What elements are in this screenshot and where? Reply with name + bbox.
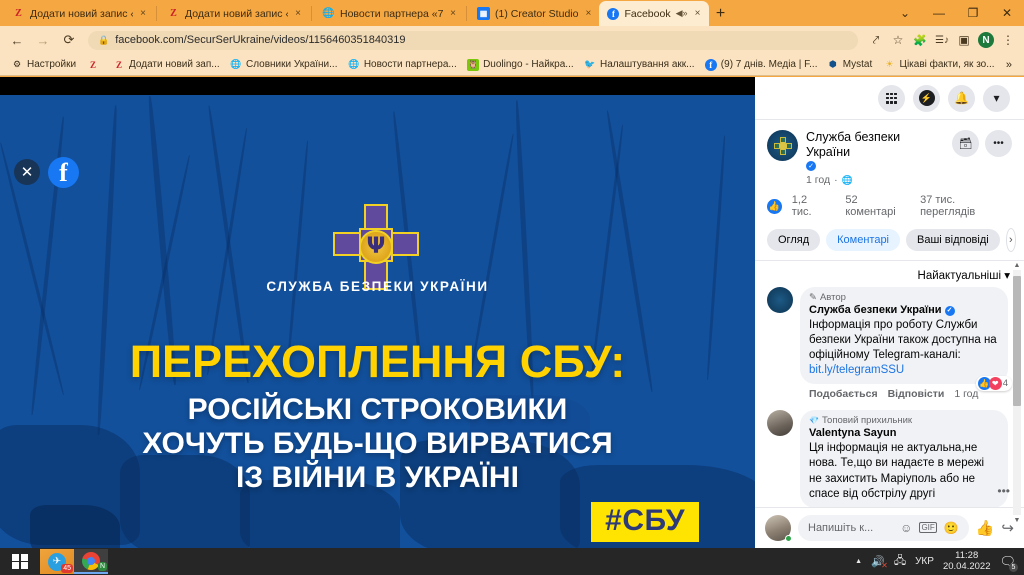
diamond-icon: 💎 <box>809 416 819 425</box>
video-headline: ПЕРЕХОПЛЕННЯ СБУ: РОСІЙСЬКІ СТРОКОВИКИ Х… <box>0 339 755 495</box>
creator-studio-icon: ▦ <box>477 7 490 20</box>
post-time: 1 год <box>806 174 830 186</box>
tab-title: Додати новий запис ‹ 7 днів <box>30 8 133 20</box>
comment-author-label: Служба безпеки України <box>809 304 942 318</box>
bookmark-item[interactable]: ⬢ Mystat <box>822 57 877 73</box>
tab-close-icon[interactable]: × <box>583 8 593 19</box>
sbu-emblem-mini <box>774 137 792 155</box>
tab-divider <box>311 6 312 21</box>
clock-time: 11:28 <box>943 551 991 562</box>
page-avatar[interactable] <box>767 130 798 161</box>
sbu-emblem-mini <box>773 293 788 308</box>
comments-list: ✎ Автор Служба безпеки України ✓ Інформа… <box>755 287 1024 507</box>
post-meta: 1 год · 🌐 <box>806 174 944 186</box>
tab-title: Додати новий запис ‹ 7 днів <box>185 8 288 20</box>
reaction-count: 4 <box>1003 378 1008 389</box>
comment-text-body: Інформація про роботу Служби безпеки Укр… <box>809 319 997 361</box>
comment-composer: Напишіть к... ☺ GIF 🙂 👍 ↪ <box>755 507 1024 548</box>
post-stats: 👍 1,2 тис. 52 коментарі 37 тис. перегляд… <box>755 186 1024 226</box>
hashtag-badge: #СБУ <box>591 502 699 542</box>
playlist-icon[interactable]: ☰♪ <box>932 30 952 50</box>
gear-icon: ⚙ <box>11 59 23 71</box>
windows-logo-icon <box>12 554 28 570</box>
tab-title: Facebook <box>624 8 670 20</box>
bookmark-item[interactable]: 🌐 Словники України... <box>225 57 341 73</box>
tab-comments[interactable]: Коментарі <box>826 229 900 251</box>
browser-tab[interactable]: Z Додати новий запис ‹ 7 днів × <box>159 1 309 26</box>
emoji-icon[interactable]: ☺ <box>900 521 912 535</box>
headline-line-4: ІЗ ВІЙНИ В УКРАЇНІ <box>0 461 755 495</box>
browser-tab[interactable]: ▦ (1) Creator Studio × <box>469 1 599 26</box>
comment-input[interactable]: Напишіть к... ☺ GIF 🙂 <box>798 515 969 541</box>
close-window-button[interactable]: ✕ <box>990 6 1024 20</box>
comment-item: ✎ Автор Служба безпеки України ✓ Інформа… <box>767 287 1008 406</box>
bookmark-label: Налаштування акк... <box>600 59 695 70</box>
avatar-initial: N <box>978 32 994 48</box>
like-reaction-icon: 👍 <box>767 199 782 214</box>
page-name-row[interactable]: Служба безпеки України <box>806 130 944 160</box>
browser-tab[interactable]: 🌐 Новости партнера «7 днів» × <box>314 1 464 26</box>
headline-line-1: ПЕРЕХОПЛЕННЯ СБУ: <box>130 339 626 385</box>
duolingo-icon: 🦉 <box>467 59 479 71</box>
chrome-browser-window: Z Додати новий запис ‹ 7 днів × Z Додати… <box>0 0 1024 548</box>
bookmarks-overflow-button[interactable]: » <box>1000 59 1018 71</box>
sbu-emblem: Ψ <box>333 204 419 290</box>
post-header-actions: 🗃 ••• <box>952 130 1012 157</box>
comment-count: 52 коментарі <box>845 194 910 218</box>
comment-sort-selector[interactable]: Найактуальніші ▾ <box>755 260 1024 287</box>
z-icon: Z <box>87 59 99 71</box>
tab-strip: Z Додати новий запис ‹ 7 днів × Z Додати… <box>0 0 1024 26</box>
bookmark-label: Duolingo - Найкра... <box>483 59 574 70</box>
chevron-right-icon[interactable]: › <box>1006 228 1016 252</box>
video-top-black-bar <box>0 77 755 95</box>
facebook-sidebar: ⚡ 🔔 ▾ <box>755 77 1024 548</box>
share-icon[interactable]: ⤤ <box>866 30 886 50</box>
toolbar-icon-group: ⤤ ☆ 🧩 ☰♪ ▣ N ⋮ <box>866 30 1018 50</box>
more-options-icon[interactable]: ••• <box>985 130 1012 157</box>
browser-tab[interactable]: Z Додати новий запис ‹ 7 днів × <box>4 1 154 26</box>
bird-icon: 🐦 <box>584 59 596 71</box>
bookmark-label: Цікаві факти, як зо... <box>900 59 995 70</box>
comment-input-placeholder: Напишіть к... <box>808 522 893 534</box>
comment-reply-button[interactable]: Відповісти <box>888 388 945 400</box>
author-badge: ✎ Автор <box>809 292 999 303</box>
sidebar-top-bar: ⚡ 🔔 ▾ <box>755 77 1024 120</box>
like-count: 1,2 тис. <box>792 194 830 218</box>
comment-body: 💎 Топовий прихильник Valentyna Sayun Ця … <box>800 410 1008 506</box>
sticker-icon[interactable]: 🙂 <box>944 521 959 535</box>
tab-title: Новости партнера «7 днів» <box>340 8 443 20</box>
start-button[interactable] <box>0 548 40 575</box>
language-indicator[interactable]: УКР <box>915 556 934 567</box>
back-button[interactable]: ← <box>6 29 28 51</box>
scroll-down-arrow[interactable]: ▼ <box>1012 515 1022 525</box>
post-header: Служба безпеки України ✓ 1 год · 🌐 🗃 <box>755 120 1024 186</box>
gif-icon[interactable]: GIF <box>919 522 936 533</box>
bookmark-label: (9) 7 днів. Медіа | F... <box>721 59 818 70</box>
online-status-dot <box>785 535 792 542</box>
reaction-chip[interactable]: 👍 ❤ 4 <box>976 376 1012 391</box>
comment-like-button[interactable]: Подобається <box>809 388 878 400</box>
screen: Z Додати новий запис ‹ 7 днів × Z Додати… <box>0 0 1024 575</box>
comment-link[interactable]: bit.ly/telegramSSU <box>809 364 904 376</box>
comment-author-name[interactable]: Служба безпеки України ✓ <box>809 304 999 318</box>
author-badge-label: Автор <box>820 292 846 303</box>
chevron-down-icon: ▾ <box>1004 270 1010 282</box>
bookmark-item[interactable]: Z Додати новий зап... <box>108 57 223 73</box>
bookmark-item[interactable]: 🐦 Налаштування акк... <box>579 57 698 73</box>
globe-icon: 🌐 <box>842 175 853 186</box>
bookmark-item[interactable]: 🦉 Duolingo - Найкра... <box>462 57 577 73</box>
telegram-badge: 45 <box>61 564 73 573</box>
chrome-badge: N <box>98 562 107 571</box>
page-content: ✕ f Ψ СЛУЖБА БЕЗПЕКИ УКРАЇНИ ПЕРЕХОПЛЕ <box>0 77 1024 548</box>
tab-close-icon[interactable]: × <box>448 8 458 19</box>
page-name-label: Служба безпеки України <box>806 130 944 160</box>
comment-time: 1 год <box>954 388 978 400</box>
extensions-icon[interactable]: 🧩 <box>910 30 930 50</box>
facebook-icon: f <box>48 157 79 188</box>
top-fan-badge: 💎 Топовий прихильник <box>809 415 999 426</box>
post-header-text: Служба безпеки України ✓ 1 год · 🌐 <box>806 130 944 186</box>
commenter-avatar[interactable] <box>767 287 793 313</box>
tab-title: (1) Creator Studio <box>495 8 578 20</box>
comment-author-name[interactable]: Valentyna Sayun <box>809 427 999 441</box>
meta-separator: · <box>834 174 838 186</box>
bookmark-label: Настройки <box>27 59 76 70</box>
comment-item: 💎 Топовий прихильник Valentyna Sayun Ця … <box>767 410 1008 506</box>
new-tab-button[interactable]: + <box>709 2 733 26</box>
sidepanel-icon[interactable]: ▣ <box>954 30 974 50</box>
notification-center-icon[interactable]: 🗨5 <box>999 554 1016 570</box>
tab-divider <box>466 6 467 21</box>
lock-icon: 🔒 <box>98 35 109 46</box>
messenger-icon[interactable]: ⚡ <box>913 85 940 112</box>
notification-count-badge: 5 <box>1009 563 1018 572</box>
volume-muted-icon[interactable]: 🔊✕ <box>871 555 885 568</box>
bookmark-label: Словники України... <box>246 59 338 70</box>
globe-icon: 🌐 <box>348 59 360 71</box>
tray-chevron-up-icon[interactable]: ▲ <box>855 558 862 565</box>
bookmark-label: Новости партнера... <box>364 59 457 70</box>
maximize-button[interactable]: ❐ <box>956 6 990 20</box>
close-icon[interactable]: ✕ <box>14 159 40 185</box>
video-player[interactable]: ✕ f Ψ СЛУЖБА БЕЗПЕКИ УКРАЇНИ ПЕРЕХОПЛЕ <box>0 77 755 548</box>
commenter-avatar[interactable] <box>767 410 793 436</box>
mystat-icon: ⬢ <box>827 59 839 71</box>
windows-taskbar: ✈ 45 N ▲ 🔊✕ 🖧 УКР 11:28 20.04.2022 🗨5 <box>0 548 1024 575</box>
taskbar-app-chrome[interactable]: N <box>74 549 108 574</box>
top-fan-label: Топовий прихильник <box>822 415 912 426</box>
sidebar-tabs: Огляд Коментарі Ваші відповіді › <box>755 226 1024 260</box>
tab-close-icon[interactable]: × <box>138 8 148 19</box>
facebook-icon: f <box>705 59 717 71</box>
bookmark-item[interactable]: ⚙ Настройки <box>6 57 80 73</box>
bookmark-label: Mystat <box>843 59 872 70</box>
bookmark-item[interactable]: Z <box>82 57 106 73</box>
taskbar-app-telegram[interactable]: ✈ 45 <box>40 549 74 574</box>
system-tray: ▲ 🔊✕ 🖧 УКР 11:28 20.04.2022 🗨5 <box>855 551 1024 573</box>
notifications-bell-icon[interactable]: 🔔 <box>948 85 975 112</box>
tab-search-icon[interactable]: ⌄ <box>888 6 922 20</box>
browser-toolbar: ← → ⟳ 🔒 facebook.com/SecurSerUkraine/vid… <box>0 26 1024 54</box>
love-reaction-icon: ❤ <box>989 377 1002 390</box>
pencil-icon: ✎ <box>809 292 817 303</box>
mute-cross-mark: ✕ <box>881 561 888 570</box>
comment-more-options-icon[interactable]: ••• <box>997 484 1010 498</box>
reload-button[interactable]: ⟳ <box>58 29 80 51</box>
headline-line-2: РОСІЙСЬКІ СТРОКОВИКИ <box>0 393 755 427</box>
scroll-up-arrow[interactable]: ▲ <box>1012 260 1022 270</box>
bookmarks-bar: ⚙ Настройки Z Z Додати новий зап... 🌐 Сл… <box>0 54 1024 76</box>
scrollbar-thumb[interactable] <box>1013 276 1021 406</box>
headline-line-3: ХОЧУТЬ БУДЬ-ЩО ВИРВАТИСЯ <box>0 427 755 461</box>
bookmark-item[interactable]: f (9) 7 днів. Медіа | F... <box>700 57 820 73</box>
tab-your-replies[interactable]: Ваші відповіді <box>906 229 1000 251</box>
tab-audio-icon[interactable]: ◀» <box>676 8 688 19</box>
facebook-icon: f <box>607 8 619 20</box>
comment-bubble: 💎 Топовий прихильник Valentyna Sayun Ця … <box>800 410 1008 506</box>
window-controls: ⌄ — ❐ ✕ <box>888 0 1024 26</box>
emblem-caption: СЛУЖБА БЕЗПЕКИ УКРАЇНИ <box>0 279 755 294</box>
like-button[interactable]: 👍 <box>976 519 995 537</box>
address-bar[interactable]: 🔒 facebook.com/SecurSerUkraine/videos/11… <box>88 31 858 50</box>
menu-grid-icon[interactable] <box>878 85 905 112</box>
profile-avatar[interactable]: N <box>976 30 996 50</box>
clock[interactable]: 11:28 20.04.2022 <box>943 551 991 573</box>
sun-icon: ☀ <box>884 59 896 71</box>
account-chevron-icon[interactable]: ▾ <box>983 85 1010 112</box>
z-icon: Z <box>113 59 125 71</box>
globe-icon: 🌐 <box>322 7 335 20</box>
trident-glyph: Ψ <box>367 236 386 258</box>
globe-icon: 🌐 <box>230 59 242 71</box>
network-icon[interactable]: 🖧 <box>894 552 906 571</box>
url-text: facebook.com/SecurSerUkraine/videos/1156… <box>115 34 405 46</box>
bookmark-label: Додати новий зап... <box>129 59 220 70</box>
verified-badge-icon: ✓ <box>806 161 816 171</box>
tab-close-icon[interactable]: × <box>293 8 303 19</box>
tab-divider <box>156 6 157 21</box>
minimize-button[interactable]: — <box>922 6 956 20</box>
comment-bubble: ✎ Автор Служба безпеки України ✓ Інформа… <box>800 287 1008 384</box>
user-avatar[interactable] <box>765 515 791 541</box>
verified-badge-icon: ✓ <box>945 306 955 316</box>
view-count: 37 тис. переглядів <box>920 194 1012 218</box>
trident-medallion: Ψ <box>359 230 393 264</box>
bookmark-item[interactable]: 🌐 Новости партнера... <box>343 57 460 73</box>
browser-tab-active[interactable]: f Facebook ◀» × <box>599 1 708 26</box>
comment-text: Ця інформація не актуальна,не нова. Те,щ… <box>809 441 999 502</box>
comment-body: ✎ Автор Служба безпеки України ✓ Інформа… <box>800 287 1008 406</box>
bookmark-star-icon[interactable]: ☆ <box>888 30 908 50</box>
chrome-menu-icon[interactable]: ⋮ <box>998 30 1018 50</box>
tab-overview[interactable]: Огляд <box>767 229 820 251</box>
sort-label: Найактуальніші <box>918 270 1001 282</box>
clock-date: 20.04.2022 <box>943 562 991 573</box>
save-post-icon[interactable]: 🗃 <box>952 130 979 157</box>
bookmark-item[interactable]: ☀ Цікаві факти, як зо... <box>879 57 998 73</box>
forward-button[interactable]: → <box>32 29 54 51</box>
comment-text: Інформація про роботу Служби безпеки Укр… <box>809 318 999 379</box>
tab-close-icon[interactable]: × <box>693 8 703 19</box>
comment-author-label: Valentyna Sayun <box>809 427 896 441</box>
comments-scrollbar[interactable]: ▲ ▼ <box>1012 260 1022 525</box>
z-icon: Z <box>167 7 180 20</box>
z-icon: Z <box>12 7 25 20</box>
